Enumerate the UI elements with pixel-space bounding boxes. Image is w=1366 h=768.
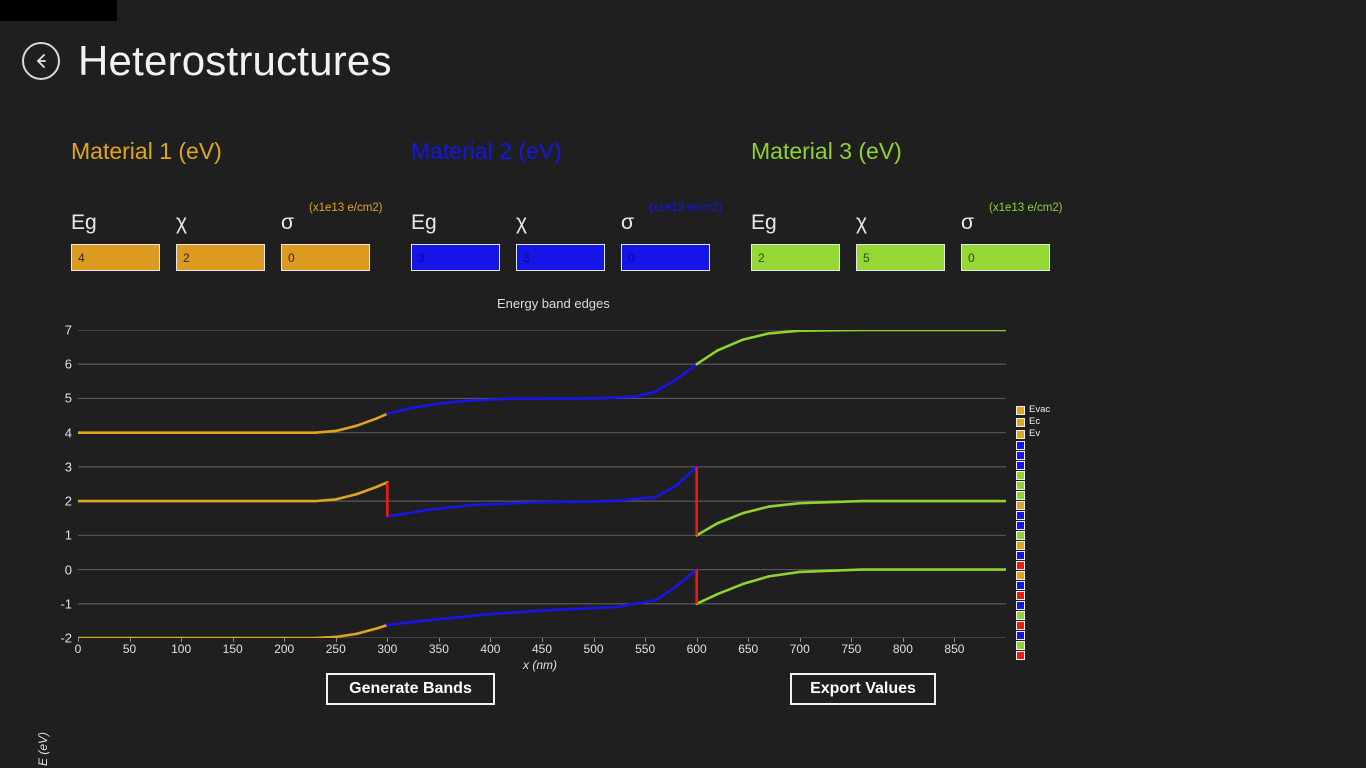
chart-series-segment (408, 619, 439, 622)
field-label: σ (961, 212, 1050, 236)
field-label: χ (176, 212, 265, 236)
material-group-3: Material 3 (eV)Egχσ(x1e13 e/cm2) (751, 140, 902, 163)
chart-series-segment (336, 426, 357, 431)
legend-swatch (1016, 430, 1025, 439)
chart-x-tick-label: 700 (790, 642, 810, 656)
legend-swatch (1016, 571, 1025, 580)
generate-bands-button[interactable]: Generate Bands (326, 673, 495, 705)
field-chi: χ (516, 212, 605, 271)
back-button[interactable] (22, 42, 60, 80)
field-unit-label: (x1e13 e/cm2) (649, 202, 723, 214)
chart-series-segment (315, 637, 336, 638)
legend-swatch (1016, 406, 1025, 415)
window-notch (0, 0, 117, 21)
chart-series-segment (635, 392, 656, 397)
chart-y-tick-label: 5 (65, 391, 72, 406)
materials-panel: Material 1 (eV)Egχσ(x1e13 e/cm2)Material… (0, 140, 1366, 290)
chart-series-segment (655, 486, 676, 497)
chart-title: Energy band edges (497, 296, 610, 311)
field-chi: χ (176, 212, 265, 271)
chart-y-tick-label: 0 (65, 562, 72, 577)
chart-x-tick-label: 150 (223, 642, 243, 656)
chart-y-tick-label: 7 (65, 323, 72, 338)
chart-series-segment (717, 584, 743, 594)
chart-y-tick-label: -2 (60, 631, 72, 646)
chart-series-segment (676, 570, 697, 587)
app-window: Heterostructures Material 1 (eV)Egχσ(x1e… (0, 0, 1366, 768)
field-input[interactable] (281, 244, 370, 271)
chart-legend: EvacEcEv (1016, 404, 1086, 661)
field-eg: Eg (71, 212, 160, 271)
material-title: Material 2 (eV) (411, 140, 562, 163)
chart-x-tick-label: 250 (326, 642, 346, 656)
legend-swatch (1016, 441, 1025, 450)
legend-swatch (1016, 601, 1025, 610)
legend-swatch (1016, 501, 1025, 510)
legend-swatch (1016, 471, 1025, 480)
legend-item: Evac (1016, 404, 1086, 416)
material-group-1: Material 1 (eV)Egχσ(x1e13 e/cm2) (71, 140, 222, 163)
chart-series-segment (769, 503, 800, 506)
chart-y-tick-label: 2 (65, 494, 72, 509)
chart-series-segment (429, 505, 470, 509)
chart-x-tick-label: 500 (584, 642, 604, 656)
field-label: Eg (411, 212, 500, 236)
field-input[interactable] (621, 244, 710, 271)
field-label: σ (281, 212, 370, 236)
field-input[interactable] (176, 244, 265, 271)
legend-swatch (1016, 641, 1025, 650)
chart-series-segment (315, 499, 336, 501)
legend-swatch (1016, 621, 1025, 630)
field-label: σ (621, 212, 710, 236)
chart-x-tick-label: 200 (274, 642, 294, 656)
chart-x-axis-label: x (nm) (523, 658, 557, 672)
chart-series-segment (356, 487, 377, 495)
legend-swatch (1016, 631, 1025, 640)
chart-series-segment (408, 404, 434, 408)
field-sigma: σ(x1e13 e/cm2) (961, 212, 1050, 271)
legend-swatch (1016, 521, 1025, 530)
material-fields: Egχσ(x1e13 e/cm2) (71, 212, 370, 271)
chart-x-tick-label: 850 (944, 642, 964, 656)
legend-item: Ev (1016, 428, 1086, 440)
chart-panel: Energy band edges E (eV) x (nm) -2-10123… (0, 296, 1366, 676)
material-group-2: Material 2 (eV)Egχσ(x1e13 e/cm2) (411, 140, 562, 163)
legend-swatch (1016, 561, 1025, 570)
chart-series-segment (336, 494, 357, 499)
chart-y-tick-label: -1 (60, 596, 72, 611)
chart-plot-area: -2-1012345670501001502002503003504004505… (78, 330, 1006, 638)
chart-series-segment (655, 587, 676, 601)
field-input[interactable] (516, 244, 605, 271)
chart-x-tick-label: 100 (171, 642, 191, 656)
band-diagram-svg (78, 330, 1006, 638)
chart-x-tick-label: 350 (429, 642, 449, 656)
chart-series-segment (717, 513, 743, 523)
chart-x-tick-label: 0 (75, 642, 82, 656)
legend-swatch (1016, 611, 1025, 620)
chart-series-segment (676, 467, 697, 486)
legend-label: Ec (1029, 417, 1040, 427)
chart-x-tick-label: 50 (123, 642, 136, 656)
chart-series-segment (743, 507, 769, 514)
field-input[interactable] (856, 244, 945, 271)
chart-series-segment (387, 514, 402, 516)
chart-series-segment (465, 399, 511, 401)
legend-swatch (1016, 511, 1025, 520)
back-arrow-icon (30, 50, 52, 72)
chart-series-segment (490, 610, 552, 614)
material-title: Material 1 (eV) (71, 140, 222, 163)
field-sigma: σ(x1e13 e/cm2) (621, 212, 710, 271)
chart-x-tick-label: 750 (841, 642, 861, 656)
page-title: Heterostructures (78, 40, 392, 82)
chart-series-segment (315, 431, 336, 433)
chart-y-tick-label: 3 (65, 459, 72, 474)
field-label: Eg (751, 212, 840, 236)
chart-y-tick-label: 6 (65, 357, 72, 372)
legend-swatch (1016, 491, 1025, 500)
field-chi: χ (856, 212, 945, 271)
chart-series-segment (356, 418, 377, 426)
legend-label: Ev (1029, 429, 1040, 439)
chart-x-tick-label: 300 (377, 642, 397, 656)
legend-swatch (1016, 461, 1025, 470)
field-eg: Eg (411, 212, 500, 271)
chart-series-segment (697, 523, 718, 535)
field-input[interactable] (411, 244, 500, 271)
page-header: Heterostructures (22, 40, 392, 82)
field-label: χ (856, 212, 945, 236)
legend-swatch (1016, 451, 1025, 460)
legend-swatch (1016, 481, 1025, 490)
chart-series-segment (697, 594, 718, 604)
chart-series-segment (336, 634, 357, 637)
legend-swatch (1016, 591, 1025, 600)
field-label: χ (516, 212, 605, 236)
field-input[interactable] (71, 244, 160, 271)
legend-swatch (1016, 418, 1025, 427)
chart-series-segment (552, 607, 614, 610)
field-unit-label: (x1e13 e/cm2) (309, 202, 383, 214)
export-values-button[interactable]: Export Values (790, 673, 936, 705)
material-fields: Egχσ(x1e13 e/cm2) (411, 212, 710, 271)
chart-series-segment (697, 351, 718, 365)
chart-series-segment (377, 482, 387, 486)
chart-series-segment (439, 614, 491, 619)
material-fields: Egχσ(x1e13 e/cm2) (751, 212, 1050, 271)
chart-series-segment (470, 502, 532, 505)
chart-series-segment (743, 333, 769, 339)
chart-y-tick-label: 4 (65, 425, 72, 440)
legend-label: Evac (1029, 405, 1050, 415)
legend-swatch (1016, 541, 1025, 550)
chart-x-tick-label: 450 (532, 642, 552, 656)
field-sigma: σ(x1e13 e/cm2) (281, 212, 370, 271)
chart-x-tick-label: 650 (738, 642, 758, 656)
legend-swatch (1016, 581, 1025, 590)
chart-series-segment (356, 628, 377, 633)
chart-series-segment (377, 625, 387, 628)
field-input[interactable] (961, 244, 1050, 271)
chart-series-segment (434, 401, 465, 404)
chart-y-axis-label: E (eV) (36, 732, 50, 766)
chart-x-tick-label: 600 (687, 642, 707, 656)
chart-series-segment (743, 576, 769, 584)
chart-x-tick-label: 400 (480, 642, 500, 656)
legend-swatch (1016, 551, 1025, 560)
chart-series-segment (594, 397, 635, 399)
chart-series-segment (377, 414, 387, 418)
legend-swatch (1016, 651, 1025, 660)
material-title: Material 3 (eV) (751, 140, 902, 163)
chart-series-segment (769, 572, 800, 576)
legend-swatch-stack (1016, 441, 1086, 660)
chart-series-segment (769, 331, 800, 334)
chart-x-tick-label: 800 (893, 642, 913, 656)
chart-y-tick-label: 1 (65, 528, 72, 543)
chart-series-segment (655, 380, 676, 392)
chart-series-segment (676, 364, 697, 379)
field-input[interactable] (751, 244, 840, 271)
chart-x-tick-label: 550 (635, 642, 655, 656)
field-unit-label: (x1e13 e/cm2) (989, 202, 1063, 214)
legend-item: Ec (1016, 416, 1086, 428)
chart-series-segment (614, 497, 655, 501)
field-eg: Eg (751, 212, 840, 271)
chart-series-segment (387, 409, 408, 414)
field-label: Eg (71, 212, 160, 236)
chart-series-segment (403, 510, 429, 514)
chart-series-segment (532, 501, 614, 502)
legend-swatch (1016, 531, 1025, 540)
chart-series-segment (800, 330, 862, 331)
chart-series-segment (717, 340, 743, 351)
chart-series-segment (387, 623, 408, 625)
